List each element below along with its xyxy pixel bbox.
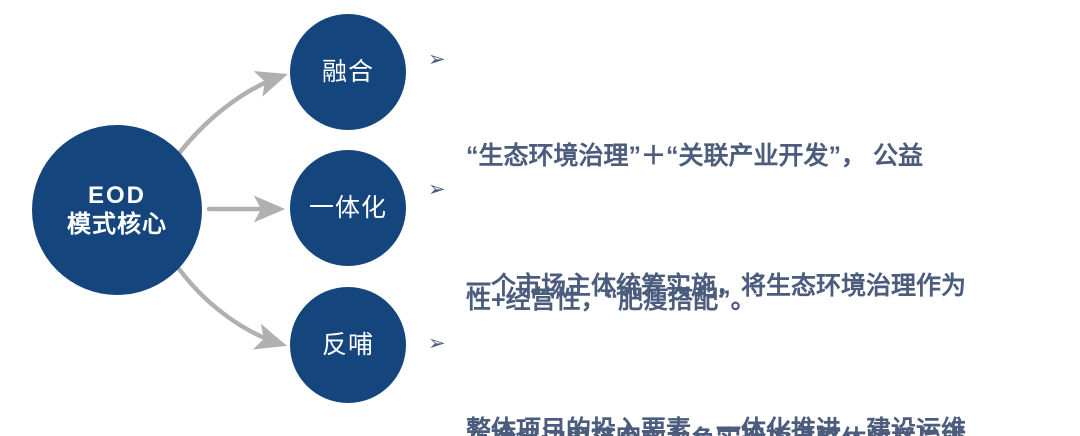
node-label-3: 反哺: [322, 330, 374, 361]
node-circle-3[interactable]: 反哺: [290, 287, 406, 403]
bullet-text-3: 在项目边界范围内力争实现项目整体收益与成 本平衡，减少政府资金投入。: [466, 320, 1048, 436]
bullet-block-3: ➢ 在项目边界范围内力争实现项目整体收益与成 本平衡，减少政府资金投入。: [428, 320, 1048, 436]
node-label-2: 一体化: [309, 193, 387, 224]
bullet-arrow-icon-3: ➢: [428, 320, 466, 368]
bullet-line: 在项目边界范围内力争实现项目整体收益与成: [466, 416, 1048, 436]
core-label-en: EOD: [88, 181, 146, 210]
diagram-canvas: EOD 模式核心 融合 一体化 反哺 ➢ “生态环境治理”＋“关联产业开发”， …: [0, 0, 1080, 436]
bullet-line: 一个市场主体统筹实施，将生态环境治理作为: [466, 262, 1048, 310]
node-label-1: 融合: [322, 57, 374, 88]
node-circle-2[interactable]: 一体化: [290, 150, 406, 266]
arrow-core-to-node-3: [174, 262, 281, 344]
arrow-core-to-node-1: [174, 76, 282, 160]
bullet-arrow-icon-2: ➢: [428, 166, 466, 214]
node-circle-1[interactable]: 融合: [290, 14, 406, 130]
core-circle[interactable]: EOD 模式核心: [32, 125, 202, 295]
core-label-cn: 模式核心: [67, 210, 167, 239]
bullet-arrow-icon-1: ➢: [428, 36, 466, 84]
